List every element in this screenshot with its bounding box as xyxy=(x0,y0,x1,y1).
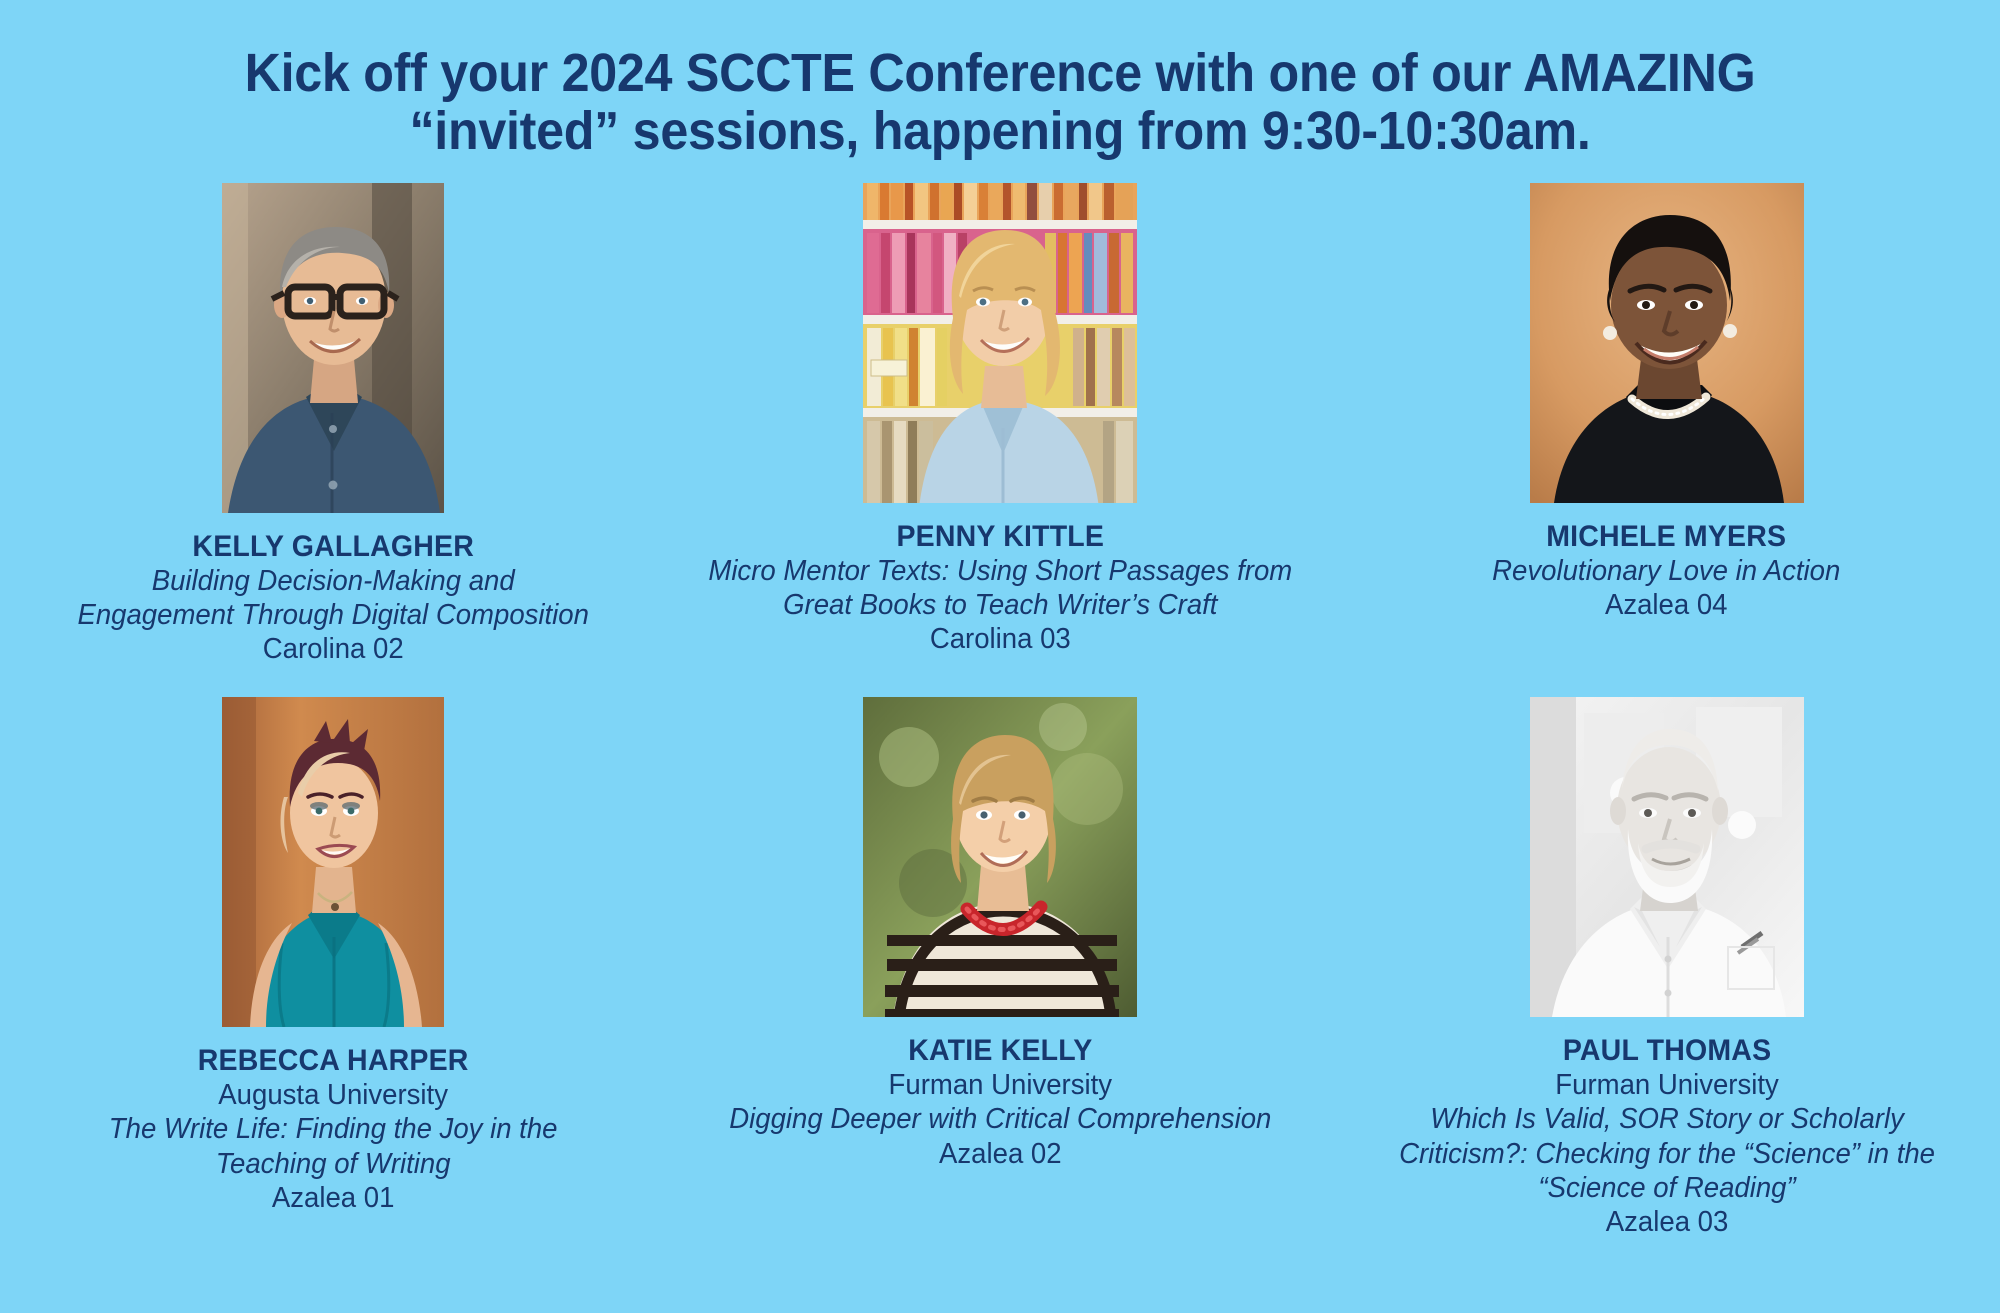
rebecca-harper-caption: REBECCA HARPER Augusta University The Wr… xyxy=(97,1043,569,1215)
speaker-card-katie-kelly: KATIE KELLY Furman University Digging De… xyxy=(667,697,1334,1239)
session-title-line-1: The Write Life: Finding the Joy in the xyxy=(109,1112,558,1146)
session-title-line-2: Great Books to Teach Writer’s Craft xyxy=(708,588,1292,622)
penny-kittle-photo xyxy=(863,183,1137,503)
session-room: Azalea 02 xyxy=(729,1137,1271,1171)
rebecca-harper-headshot-icon xyxy=(222,697,444,1027)
session-title-line-1: Digging Deeper with Critical Comprehensi… xyxy=(729,1102,1271,1136)
katie-kelly-photo xyxy=(863,697,1137,1017)
session-title-line-2: Teaching of Writing xyxy=(109,1147,558,1181)
speaker-name: REBECCA HARPER xyxy=(109,1043,558,1078)
katie-kelly-caption: KATIE KELLY Furman University Digging De… xyxy=(715,1033,1286,1171)
speaker-card-penny-kittle: PENNY KITTLE Micro Mentor Texts: Using S… xyxy=(667,183,1334,667)
speaker-name: KATIE KELLY xyxy=(729,1033,1271,1068)
session-title-line-1: Revolutionary Love in Action xyxy=(1493,554,1841,588)
session-room: Azalea 04 xyxy=(1493,588,1841,622)
speaker-name: KELLY GALLAGHER xyxy=(78,529,590,564)
penny-kittle-caption: PENNY KITTLE Micro Mentor Texts: Using S… xyxy=(693,519,1308,657)
michele-myers-photo xyxy=(1530,183,1804,503)
page-title: Kick off your 2024 SCCTE Conference with… xyxy=(150,0,1850,161)
session-title-line-1: Which Is Valid, SOR Story or Scholarly xyxy=(1399,1102,1935,1136)
kelly-gallagher-headshot-icon xyxy=(222,183,444,513)
conference-session-poster: Kick off your 2024 SCCTE Conference with… xyxy=(0,0,2000,1313)
session-room: Carolina 03 xyxy=(708,622,1292,656)
rebecca-harper-photo xyxy=(222,697,444,1027)
title-line-1: Kick off your 2024 SCCTE Conference with… xyxy=(210,44,1791,102)
speaker-name: PENNY KITTLE xyxy=(708,519,1292,554)
speaker-card-kelly-gallagher: KELLY GALLAGHER Building Decision-Making… xyxy=(0,183,667,667)
speaker-name: MICHELE MYERS xyxy=(1493,519,1841,554)
michele-myers-caption: MICHELE MYERS Revolutionary Love in Acti… xyxy=(1483,519,1849,623)
speaker-card-paul-thomas: PAUL THOMAS Furman University Which Is V… xyxy=(1333,697,2000,1239)
paul-thomas-headshot-icon xyxy=(1530,697,1804,1017)
speaker-row-bottom: REBECCA HARPER Augusta University The Wr… xyxy=(0,697,2000,1239)
speaker-card-rebecca-harper: REBECCA HARPER Augusta University The Wr… xyxy=(0,697,667,1239)
kelly-gallagher-caption: KELLY GALLAGHER Building Decision-Making… xyxy=(64,529,602,667)
session-room: Azalea 03 xyxy=(1399,1205,1935,1239)
speaker-grid: KELLY GALLAGHER Building Decision-Making… xyxy=(0,183,2000,1240)
paul-thomas-caption: PAUL THOMAS Furman University Which Is V… xyxy=(1385,1033,1949,1239)
speaker-row-top: KELLY GALLAGHER Building Decision-Making… xyxy=(0,183,2000,667)
speaker-affiliation: Augusta University xyxy=(109,1078,558,1112)
michele-myers-headshot-icon xyxy=(1530,183,1804,503)
paul-thomas-photo xyxy=(1530,697,1804,1017)
session-title-line-2: Engagement Through Digital Composition xyxy=(78,598,590,632)
speaker-affiliation: Furman University xyxy=(729,1068,1271,1102)
session-title-line-2: Criticism?: Checking for the “Science” i… xyxy=(1399,1137,1935,1171)
speaker-card-michele-myers: MICHELE MYERS Revolutionary Love in Acti… xyxy=(1333,183,2000,667)
title-line-2: “invited” sessions, happening from 9:30-… xyxy=(210,102,1791,160)
katie-kelly-headshot-icon xyxy=(863,697,1137,1017)
kelly-gallagher-photo xyxy=(222,183,444,513)
penny-kittle-headshot-icon xyxy=(863,183,1137,503)
session-title-line-1: Building Decision-Making and xyxy=(78,564,590,598)
session-room: Azalea 01 xyxy=(109,1181,558,1215)
session-title-line-1: Micro Mentor Texts: Using Short Passages… xyxy=(708,554,1292,588)
speaker-affiliation: Furman University xyxy=(1399,1068,1935,1102)
session-room: Carolina 02 xyxy=(78,632,590,666)
session-title-line-3: “Science of Reading” xyxy=(1399,1171,1935,1205)
speaker-name: PAUL THOMAS xyxy=(1399,1033,1935,1068)
